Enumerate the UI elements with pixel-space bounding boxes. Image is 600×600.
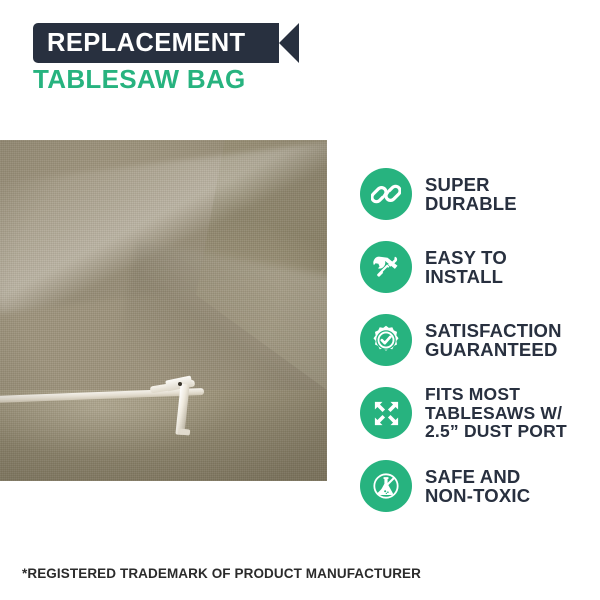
badge-check-icon — [360, 314, 412, 366]
footer-trademark-note: *REGISTERED TRADEMARK OF PRODUCT MANUFAC… — [22, 566, 421, 581]
page-title-replacement: REPLACEMENT — [47, 23, 246, 63]
header-block: REPLACEMENT TABLESAW BAG — [0, 0, 600, 118]
no-flask-icon — [360, 460, 412, 512]
feature-label-super-durable: SUPER DURABLE — [425, 175, 517, 214]
feature-item-fits-most-tablesaws: FITS MOST TABLESAWS W/ 2.5” DUST PORT — [360, 382, 600, 444]
expand-arrows-icon — [360, 387, 412, 439]
photo-vignette — [0, 140, 327, 481]
product-photo — [0, 140, 327, 481]
feature-label-satisfaction-guaranteed: SATISFACTION GUARANTEED — [425, 321, 562, 360]
feature-label-easy-to-install: EASY TO INSTALL — [425, 248, 507, 287]
ribbon-notch-shape — [270, 23, 299, 63]
feature-item-easy-to-install: EASY TO INSTALL — [360, 236, 600, 298]
feature-label-fits-most-tablesaws: FITS MOST TABLESAWS W/ 2.5” DUST PORT — [425, 385, 567, 441]
feature-item-satisfaction-guaranteed: SATISFACTION GUARANTEED — [360, 309, 600, 371]
wrench-screwdriver-icon — [360, 241, 412, 293]
feature-item-safe-and-non-toxic: SAFE AND NON-TOXIC — [360, 455, 600, 517]
feature-item-super-durable: SUPER DURABLE — [360, 163, 600, 225]
feature-list: SUPER DURABLE EASY TO INSTALL — [360, 163, 600, 528]
feature-label-safe-and-non-toxic: SAFE AND NON-TOXIC — [425, 467, 530, 506]
page-subtitle-product-name: TABLESAW BAG — [33, 64, 246, 95]
chain-link-icon — [360, 168, 412, 220]
